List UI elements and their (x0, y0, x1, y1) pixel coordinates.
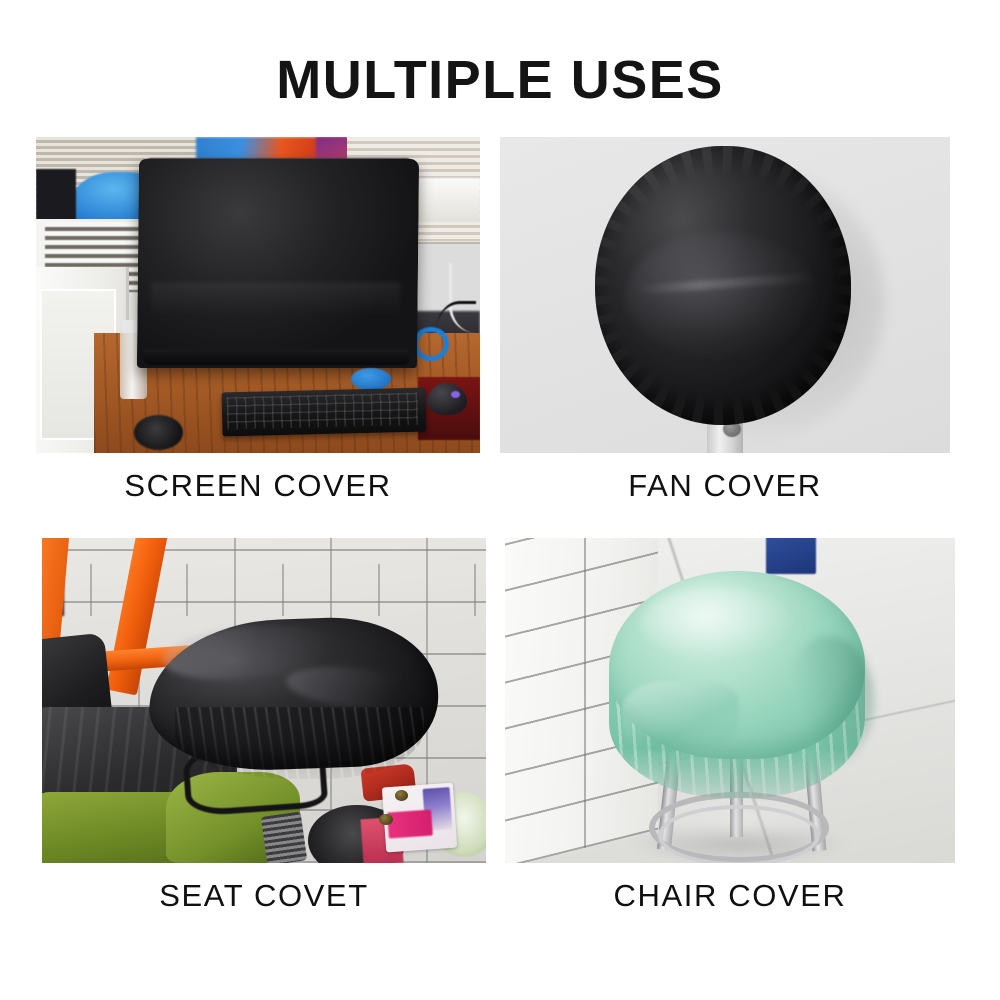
stool-foot-ring-inner (658, 805, 820, 864)
desk-disc-object (134, 415, 183, 450)
cover-sheen (626, 232, 815, 358)
use-caption-screen-cover: SCREEN COVER (0, 468, 520, 504)
rear-shock-spring (261, 812, 307, 863)
fan-cover-photo (500, 137, 950, 453)
blue-desk-object (351, 368, 391, 390)
chair-cover-photo (505, 538, 955, 863)
cover-fold-highlight (151, 282, 400, 345)
chair-cover-shadow (784, 636, 874, 766)
uses-grid: SCREEN COVER FAN COVER (36, 137, 964, 947)
chair-cover-fold (622, 681, 739, 753)
promo-image: MULTIPLE USES (0, 0, 1000, 1000)
use-caption-seat-cover: SEAT COVET (2, 878, 526, 914)
chair-cover-highlight (640, 587, 793, 659)
cover-bottom-hem (143, 349, 409, 365)
seat-cover-photo (42, 538, 486, 863)
blue-background-object (766, 538, 816, 574)
tag-bolt-lower (379, 814, 392, 825)
screen-cover-photo (36, 137, 480, 453)
use-caption-fan-cover: FAN COVER (460, 468, 990, 504)
keyboard-keys (227, 392, 419, 428)
use-caption-chair-cover: CHAIR COVER (465, 878, 995, 914)
page-title: MULTIPLE USES (0, 52, 1000, 109)
use-card-chair-cover: CHAIR COVER (505, 538, 955, 863)
computer-mouse (427, 383, 467, 415)
black-cable (436, 301, 476, 352)
use-card-fan-cover: FAN COVER (500, 137, 950, 453)
use-card-seat-cover: SEAT COVET (42, 538, 486, 863)
tag-brand-text (387, 809, 433, 838)
use-card-screen-cover: SCREEN COVER (36, 137, 480, 453)
tag-bolt-upper (395, 790, 408, 801)
